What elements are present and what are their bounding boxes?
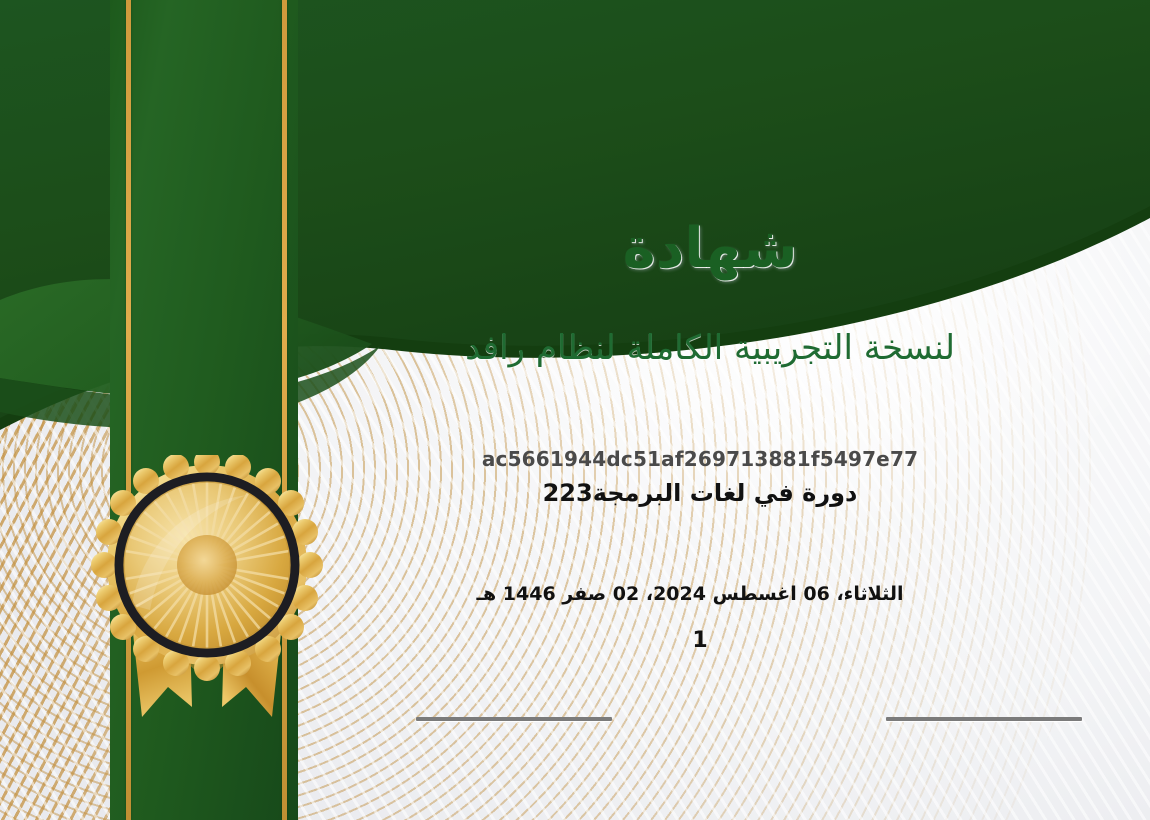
certificate-title: شهادة: [330, 218, 1090, 280]
certificate-hash-code: ac5661944dc51af269713881f5497e77: [400, 447, 1000, 471]
signature-line-right: [886, 717, 1082, 721]
certificate-canvas: شهادة لنسخة التجريبية الكاملة لنظام رافد…: [0, 0, 1150, 820]
course-name: دورة في لغات البرمجة223: [400, 479, 1000, 507]
serial-number: 1: [400, 628, 1000, 653]
certificate-subtitle: لنسخة التجريبية الكاملة لنظام رافد: [330, 327, 1090, 370]
award-medal-rosette-icon: [72, 455, 342, 755]
signature-line-left: [416, 717, 612, 721]
issue-date: الثلاثاء، 06 اغسطس 2024، 02 صفر 1446 هـ: [380, 583, 1000, 605]
